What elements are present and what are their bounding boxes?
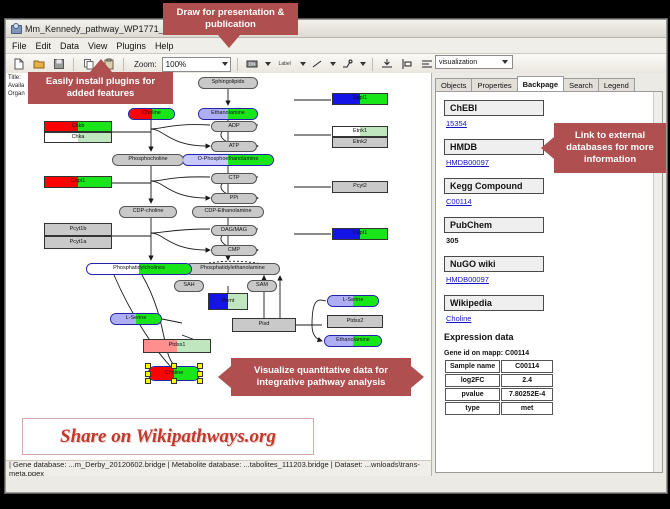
expr-label-type: type: [445, 402, 500, 415]
table-row: log2FC 2.4: [445, 374, 553, 387]
node-label: ADP: [228, 124, 239, 130]
selection-handle[interactable]: [171, 363, 177, 369]
tab-search[interactable]: Search: [563, 78, 599, 91]
callout-visualize-arrow-right: [411, 366, 424, 388]
node-label: Phosphatidylcholines: [113, 266, 165, 272]
db-header-kegg-compound: Kegg Compound: [444, 178, 544, 194]
callout-links-arrow: [541, 137, 554, 159]
metabolite-node-phosphocholine[interactable]: Phosphocholine: [112, 154, 184, 166]
node-label: Choline: [142, 111, 161, 117]
expr-value-type: met: [501, 402, 553, 415]
callout-plugins: Easily install plugins for added feature…: [28, 72, 173, 104]
gene-node-etnk1[interactable]: Etnk1: [332, 126, 388, 137]
chevron-down-icon: [222, 62, 228, 66]
node-label: Chka: [72, 135, 85, 141]
node-label: Etnk2: [353, 140, 367, 146]
label-availability: Availa: [8, 82, 25, 90]
callout-visualize-arrow-left: [218, 366, 231, 388]
gene-node-pcyt2[interactable]: Pcyt2: [332, 181, 388, 193]
visualization-value: visualization: [439, 59, 477, 66]
node-label: Choline: [165, 371, 184, 377]
screenshot-root: Mm_Kennedy_pathway_WP1771_45176.gpml Fil…: [0, 0, 670, 509]
node-label: CDP-choline: [133, 209, 164, 215]
align-top-icon[interactable]: [379, 56, 396, 73]
selection-handle[interactable]: [145, 363, 151, 369]
label-icon-text: Label: [279, 61, 291, 67]
node-label: CDP-Ethanolamine: [204, 209, 251, 215]
node-label: Pcyt1b: [70, 227, 87, 233]
node-label: Etnk1: [353, 129, 367, 135]
stack-icon[interactable]: [419, 56, 436, 73]
node-label: DAG/MAG: [221, 228, 247, 234]
node-label: Chpt1: [71, 179, 86, 185]
gene-id-line: Gene id on mapp: C00114: [444, 350, 652, 357]
table-row: pvalue 7.80252E-4: [445, 388, 553, 401]
menu-item-view[interactable]: View: [88, 41, 107, 51]
gene-node-pcyt1b[interactable]: Pcyt1b: [44, 223, 112, 236]
callout-plugins-arrow: [90, 59, 112, 72]
gene-node-cept1[interactable]: Cept1: [332, 228, 388, 240]
share-text: Share on Wikipathways.org: [60, 426, 276, 448]
callout-draw: Draw for presentation & publication: [163, 3, 298, 35]
toolbar-separator: [123, 58, 124, 71]
db-link-wikipedia[interactable]: Choline: [446, 314, 652, 323]
datanode-icon[interactable]: DN: [244, 56, 261, 73]
title-bar: Mm_Kennedy_pathway_WP1771_45176.gpml: [6, 20, 666, 38]
node-label: Cept1: [353, 231, 368, 237]
node-label: Ethanolamine: [336, 338, 370, 344]
metabolite-node-cdp-choline[interactable]: CDP-choline: [119, 206, 177, 218]
expression-data-heading: Expression data: [444, 332, 652, 342]
node-label: Ptdss2: [347, 319, 364, 325]
menu-item-edit[interactable]: Edit: [36, 41, 52, 51]
metabolite-node-cmp[interactable]: CMP: [211, 245, 257, 256]
db-header-pubchem: PubChem: [444, 217, 544, 233]
table-row: Sample name C00114: [445, 360, 553, 373]
zoom-combobox[interactable]: 100%: [162, 57, 231, 72]
metabolite-node-l-serine-left[interactable]: L-Serine: [110, 313, 162, 325]
selection-handle[interactable]: [197, 371, 203, 377]
label-organism: Organ: [8, 90, 25, 98]
callout-visualize: Visualize quantitative data for integrat…: [231, 358, 411, 396]
chevron-down-icon[interactable]: [265, 62, 271, 66]
metabolite-node-ppi[interactable]: PPi: [211, 193, 257, 204]
metabolite-node-ethanolamine-top[interactable]: Ethanolamine: [198, 108, 258, 120]
chevron-down-icon: [502, 60, 508, 64]
node-label: ATP: [229, 144, 239, 150]
expr-label-sample-name: Sample name: [445, 360, 500, 373]
selection-handle[interactable]: [171, 378, 177, 384]
side-panel-tabs: Objects Properties Backpage Search Legen…: [435, 77, 663, 92]
node-label: L-Serine: [343, 298, 364, 304]
node-label: Phosphocholine: [128, 157, 167, 163]
tab-objects[interactable]: Objects: [435, 78, 472, 91]
callout-share: Share on Wikipathways.org: [22, 418, 314, 455]
node-label: Pcyt2: [353, 184, 367, 190]
expr-value-pvalue: 7.80252E-4: [501, 388, 553, 401]
expr-label-log2fc: log2FC: [445, 374, 500, 387]
gene-node-chkb[interactable]: Chkb: [44, 121, 112, 132]
db-header-chebi: ChEBI: [444, 100, 544, 116]
node-label: Sphingolipids: [212, 80, 245, 86]
status-text: | Gene database: ...m_Derby_20120602.bri…: [9, 460, 431, 477]
metabolite-node-atp[interactable]: ATP: [211, 141, 257, 152]
zoom-value: 100%: [166, 60, 186, 69]
menu-item-data[interactable]: Data: [60, 41, 79, 51]
node-label: Pemt: [222, 299, 235, 305]
gene-node-pcyt1a[interactable]: Pcyt1a: [44, 236, 112, 249]
metabolite-node-ctp[interactable]: CTP: [211, 173, 257, 184]
chevron-down-icon[interactable]: [360, 62, 366, 66]
pathway-diagram[interactable]: SphingolipidsEthanolamineO-Phosphoethano…: [32, 73, 431, 476]
table-row: type met: [445, 402, 553, 415]
menu-item-file[interactable]: File: [12, 41, 27, 51]
tab-properties[interactable]: Properties: [471, 78, 517, 91]
node-label: CTP: [229, 176, 240, 182]
canvas-side-labels: Title: Availa Organ: [8, 74, 25, 98]
expression-table: Sample name C00114 log2FC 2.4 pvalue 7.8…: [444, 359, 554, 416]
callout-links: Link to external databases for more info…: [554, 123, 666, 173]
metabolite-node-phosphatidylcholines[interactable]: Phosphatidylcholines: [86, 263, 192, 275]
label-icon[interactable]: Label: [274, 56, 296, 73]
metabolite-node-o-phosphoethanolamine[interactable]: O-Phosphoethanolamine: [182, 154, 274, 166]
metabolite-node-ethanolamine-right[interactable]: Ethanolamine: [324, 335, 382, 347]
gene-node-etnk2[interactable]: Etnk2: [332, 137, 388, 148]
metabolite-node-phosphatidylethanolamine[interactable]: Phosphatidylethanolamine: [185, 263, 280, 275]
selection-handle[interactable]: [197, 363, 203, 369]
metabolite-node-sphingolipids[interactable]: Sphingolipids: [198, 77, 258, 89]
visualization-combobox[interactable]: visualization: [435, 55, 513, 69]
gene-node-pemt[interactable]: Pemt: [208, 293, 248, 310]
chevron-down-icon[interactable]: [300, 62, 306, 66]
tab-backpage[interactable]: Backpage: [517, 76, 564, 91]
app-icon: [10, 23, 21, 34]
node-label: CMP: [228, 248, 240, 254]
toolbar-separator: [73, 58, 74, 71]
pathway-canvas-pane[interactable]: Title: Availa Organ: [6, 73, 432, 476]
gene-node-sgpl1[interactable]: Sgpl1: [332, 93, 388, 105]
menu-bar: File Edit Data View Plugins Help: [6, 38, 666, 54]
node-label: Sgpl1: [353, 96, 367, 102]
gene-node-ptdss2[interactable]: Ptdss2: [327, 315, 383, 328]
selection-handle[interactable]: [197, 378, 203, 384]
open-icon[interactable]: [30, 56, 47, 73]
tab-legend[interactable]: Legend: [598, 78, 635, 91]
db-link-nugo-wiki[interactable]: HMDB00097: [446, 275, 652, 284]
db-link-kegg-compound[interactable]: C00114: [446, 197, 652, 206]
gene-node-chka[interactable]: Chka: [44, 132, 112, 143]
chevron-down-icon[interactable]: [330, 62, 336, 66]
gene-node-pisd[interactable]: Pisd: [232, 318, 296, 332]
interaction-icon[interactable]: [339, 56, 356, 73]
selection-handle[interactable]: [145, 371, 151, 377]
metabolite-node-sam[interactable]: SAM: [247, 280, 277, 292]
node-label: Phosphatidylethanolamine: [200, 266, 265, 272]
db-header-wikipedia: Wikipedia: [444, 295, 544, 311]
db-value-pubchem: 305: [446, 236, 652, 245]
metabolite-node-dagmag[interactable]: DAG/MAG: [211, 225, 257, 236]
expr-value-sample-name: C00114: [501, 360, 553, 373]
gene-node-chpt1[interactable]: Chpt1: [44, 176, 112, 188]
node-label: Ethanolamine: [211, 111, 245, 117]
gene-node-ptdss1[interactable]: Ptdss1: [143, 339, 211, 353]
save-icon[interactable]: [50, 56, 67, 73]
selection-handle[interactable]: [145, 378, 151, 384]
toolbar-separator: [237, 58, 238, 71]
db-header-hmdb: HMDB: [444, 139, 544, 155]
metabolite-node-sah[interactable]: SAH: [174, 280, 204, 292]
node-label: PPi: [230, 196, 239, 202]
node-label: SAH: [183, 283, 194, 289]
node-label: L-Serine: [126, 316, 147, 322]
db-header-nugo-wiki: NuGO wiki: [444, 256, 544, 272]
node-label: SAM: [256, 283, 268, 289]
toolbar-separator: [372, 58, 373, 71]
expr-value-log2fc: 2.4: [501, 374, 553, 387]
node-label: Chkb: [72, 124, 85, 130]
node-label: Pisd: [259, 322, 270, 328]
node-label: O-Phosphoethanolamine: [198, 157, 259, 163]
status-bar: | Gene database: ...m_Derby_20120602.bri…: [6, 460, 431, 476]
node-label: Ptdss1: [169, 343, 186, 349]
callout-draw-arrow: [218, 35, 240, 48]
menu-item-help[interactable]: Help: [155, 41, 174, 51]
align-left-icon[interactable]: [399, 56, 416, 73]
metabolite-node-choline-top[interactable]: Choline: [128, 108, 175, 120]
metabolite-node-l-serine-right[interactable]: L-Serine: [327, 295, 379, 307]
zoom-label: Zoom:: [134, 60, 157, 69]
node-label: Pcyt1a: [70, 240, 87, 246]
new-icon[interactable]: [10, 56, 27, 73]
metabolite-node-cdp-ethanolamine[interactable]: CDP-Ethanolamine: [192, 206, 264, 218]
expr-label-pvalue: pvalue: [445, 388, 500, 401]
line-icon[interactable]: [309, 56, 326, 73]
metabolite-node-adp[interactable]: ADP: [211, 121, 257, 132]
label-title: Title:: [8, 74, 25, 82]
menu-item-plugins[interactable]: Plugins: [116, 41, 146, 51]
svg-text:DN: DN: [249, 62, 256, 67]
